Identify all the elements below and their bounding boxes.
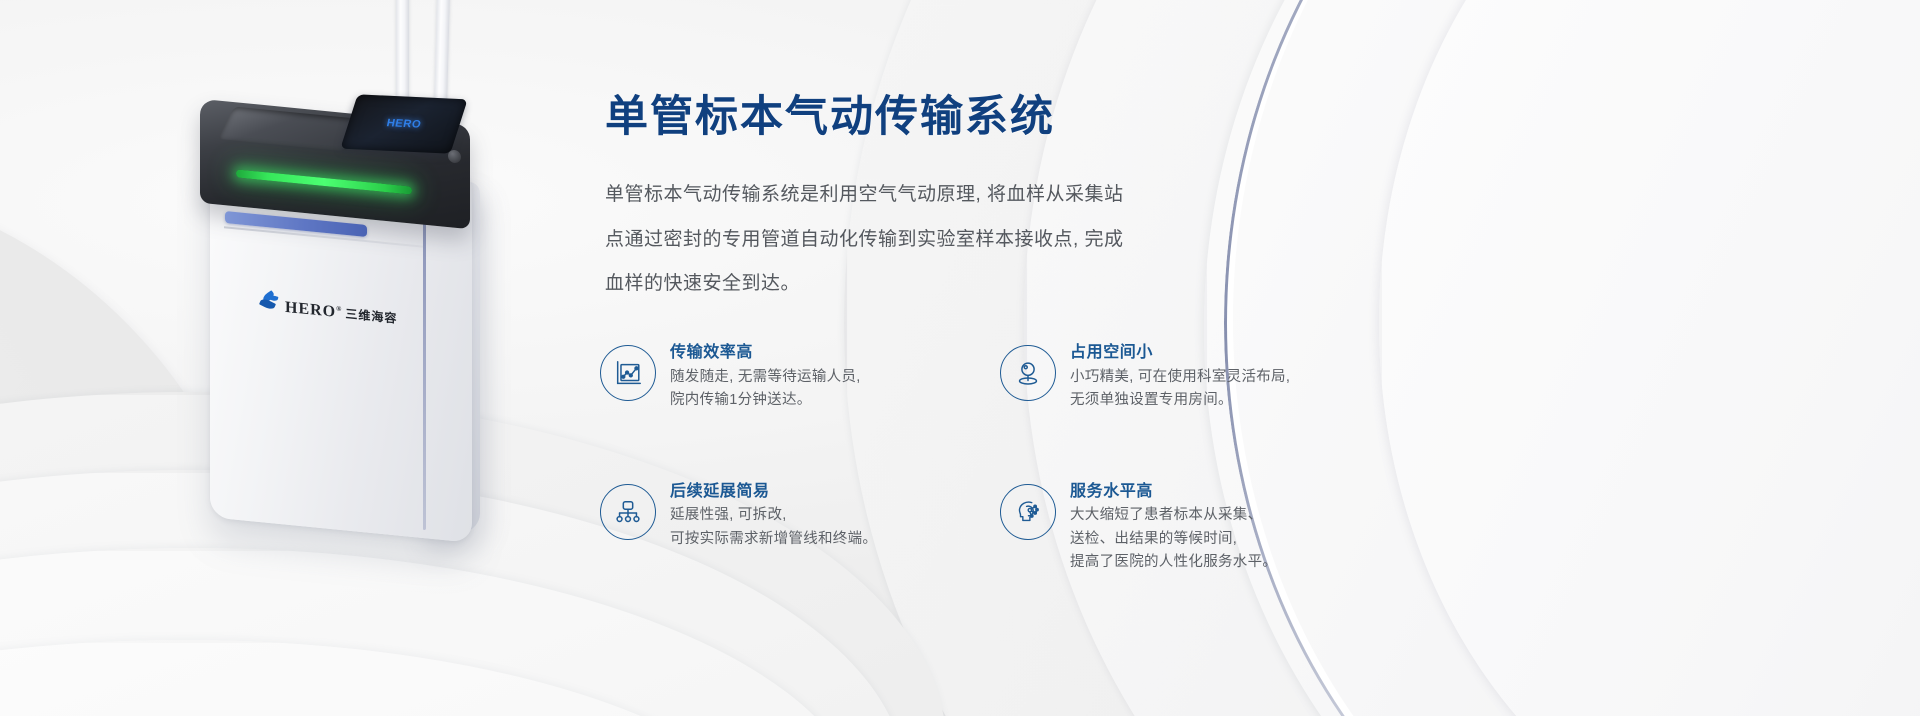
device-edge-seam	[423, 200, 426, 531]
feature-line: 送检、出结果的等候时间,	[1070, 528, 1277, 551]
feature-text: 服务水平高 大大缩短了患者标本从采集、 送检、出结果的等候时间, 提高了医院的人…	[1070, 481, 1277, 575]
feature-title: 服务水平高	[1070, 481, 1277, 503]
hero-leaf-icon	[258, 291, 280, 315]
feature-line: 大大缩短了患者标本从采集、	[1070, 504, 1277, 527]
feature-body: 大大缩短了患者标本从采集、 送检、出结果的等候时间, 提高了医院的人性化服务水平…	[1070, 504, 1277, 574]
device-knob	[448, 149, 461, 163]
page-title: 单管标本气动传输系统	[605, 96, 1055, 139]
smart-head-icon	[1000, 484, 1056, 540]
feature-body: 随发随走, 无需等待运输人员, 院内传输1分钟送达。	[670, 366, 861, 413]
arc-right-4	[1379, 0, 1920, 716]
feature-body: 小巧精美, 可在使用科室灵活布局, 无须单独设置专用房间。	[1070, 366, 1290, 413]
feature-line: 随发随走, 无需等待运输人员,	[670, 366, 861, 389]
feature-line: 院内传输1分钟送达。	[670, 389, 861, 412]
feature-title: 占用空间小	[1070, 342, 1290, 364]
feature-text: 后续延展简易 延展性强, 可拆改, 可按实际需求新增管线和终端。	[670, 481, 877, 552]
description-line: 单管标本气动传输系统是利用空气气动原理, 将血样从采集站	[605, 173, 1265, 218]
banner-description: 单管标本气动传输系统是利用空气气动原理, 将血样从采集站 点通过密封的专用管道自…	[605, 173, 1265, 307]
feature-text: 传输效率高 随发随走, 无需等待运输人员, 院内传输1分钟送达。	[670, 342, 861, 413]
feature-item-service-level: 服务水平高 大大缩短了患者标本从采集、 送检、出结果的等候时间, 提高了医院的人…	[1000, 481, 1380, 575]
feature-text: 占用空间小 小巧精美, 可在使用科室灵活布局, 无须单独设置专用房间。	[1070, 342, 1290, 413]
banner-stage: HERO HERO®三维海容 单管标本气动传输系统 单管标本气动传输系统是利用空…	[0, 0, 1920, 716]
chart-line-icon	[600, 345, 656, 401]
feature-line: 延展性强, 可拆改,	[670, 504, 877, 527]
feature-line: 无须单独设置专用房间。	[1070, 389, 1290, 412]
feature-item-transmission-efficiency: 传输效率高 随发随走, 无需等待运输人员, 院内传输1分钟送达。	[600, 342, 1000, 413]
description-line: 血样的快速安全到达。	[605, 262, 1265, 307]
feature-row-1: 传输效率高 随发随走, 无需等待运输人员, 院内传输1分钟送达。	[600, 342, 1380, 413]
feature-item-easy-expansion: 后续延展简易 延展性强, 可拆改, 可按实际需求新增管线和终端。	[600, 481, 1000, 575]
feature-title: 传输效率高	[670, 342, 861, 364]
location-pin-icon	[1000, 345, 1056, 401]
screen-logo-text: HERO	[386, 117, 423, 130]
brand-registered-mark: ®	[336, 304, 342, 313]
feature-line: 小巧精美, 可在使用科室灵活布局,	[1070, 366, 1290, 389]
feature-title: 后续延展简易	[670, 481, 877, 503]
description-line: 点通过密封的专用管道自动化传输到实验室样本接收点, 完成	[605, 218, 1265, 263]
feature-line: 提高了医院的人性化服务水平。	[1070, 551, 1277, 574]
device-touchscreen: HERO	[340, 94, 467, 153]
product-device-image: HERO HERO®三维海容	[180, 0, 560, 600]
banner-content: 单管标本气动传输系统 单管标本气动传输系统是利用空气气动原理, 将血样从采集站 …	[600, 0, 1380, 716]
network-hierarchy-icon	[600, 484, 656, 540]
feature-line: 可按实际需求新增管线和终端。	[670, 528, 877, 551]
feature-body: 延展性强, 可拆改, 可按实际需求新增管线和终端。	[670, 504, 877, 551]
feature-grid: 传输效率高 随发随走, 无需等待运输人员, 院内传输1分钟送达。	[600, 342, 1380, 575]
feature-item-small-footprint: 占用空间小 小巧精美, 可在使用科室灵活布局, 无须单独设置专用房间。	[1000, 342, 1380, 413]
feature-row-2: 后续延展简易 延展性强, 可拆改, 可按实际需求新增管线和终端。	[600, 481, 1380, 575]
